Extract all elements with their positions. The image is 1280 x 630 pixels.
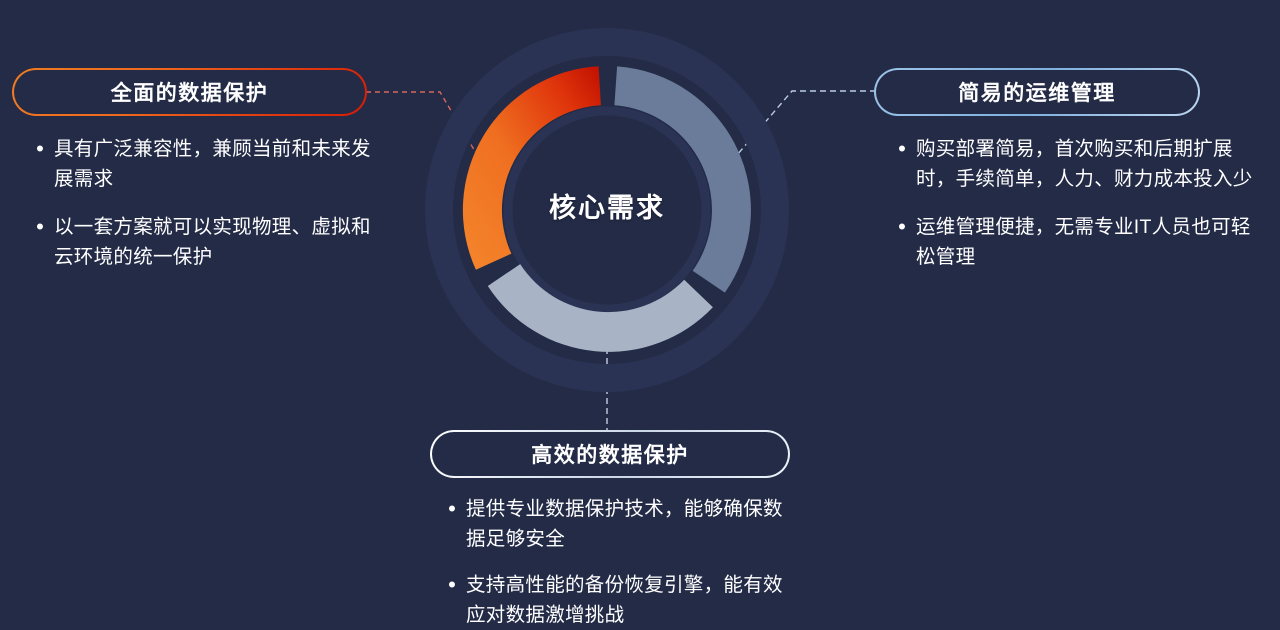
- callout-right-bullet-list: • 购买部署简易，首次购买和后期扩展时，手续简单，人力、财力成本投入少 • 运维…: [888, 134, 1266, 272]
- slide-canvas: 核心需求 全面的数据保护 • 具有广泛兼容性，兼顾当前和未来发展需求 • 以一套…: [0, 0, 1280, 622]
- callout-comprehensive-protection: 全面的数据保护 • 具有广泛兼容性，兼顾当前和未来发展需求 • 以一套方案就可以…: [12, 68, 382, 272]
- callout-bottom-title: 高效的数据保护: [531, 439, 689, 469]
- callout-left-bullet-list: • 具有广泛兼容性，兼顾当前和未来发展需求 • 以一套方案就可以实现物理、虚拟和…: [26, 134, 382, 272]
- list-item: • 具有广泛兼容性，兼顾当前和未来发展需求: [26, 134, 382, 194]
- bullet-text: 提供专业数据保护技术，能够确保数据足够安全: [466, 494, 802, 554]
- donut-center-label: 核心需求: [497, 186, 717, 225]
- bullet-icon: •: [888, 134, 916, 164]
- bullet-text: 具有广泛兼容性，兼顾当前和未来发展需求: [54, 134, 382, 194]
- list-item: • 运维管理便捷，无需专业IT人员也可轻松管理: [888, 212, 1266, 272]
- list-item: • 以一套方案就可以实现物理、虚拟和云环境的统一保护: [26, 212, 382, 272]
- callout-right-pill-inner: 简易的运维管理: [876, 70, 1198, 114]
- bullet-icon: •: [438, 494, 466, 524]
- callout-bottom-bullet-list: • 提供专业数据保护技术，能够确保数据足够安全 • 支持高性能的备份恢复引擎，能…: [438, 494, 802, 630]
- callout-left-pill-inner: 全面的数据保护: [14, 70, 365, 114]
- callout-left-pill[interactable]: 全面的数据保护: [12, 68, 367, 116]
- list-item: • 提供专业数据保护技术，能够确保数据足够安全: [438, 494, 802, 554]
- list-item: • 购买部署简易，首次购买和后期扩展时，手续简单，人力、财力成本投入少: [888, 134, 1266, 194]
- callout-bottom-pill-inner: 高效的数据保护: [432, 432, 788, 476]
- bullet-icon: •: [26, 212, 54, 242]
- callout-right-title: 简易的运维管理: [958, 77, 1116, 107]
- bullet-icon: •: [26, 134, 54, 164]
- bullet-icon: •: [888, 212, 916, 242]
- bullet-text: 购买部署简易，首次购买和后期扩展时，手续简单，人力、财力成本投入少: [916, 134, 1266, 194]
- callout-left-title: 全面的数据保护: [111, 77, 269, 107]
- callout-efficient-data-protection: 高效的数据保护 • 提供专业数据保护技术，能够确保数据足够安全 • 支持高性能的…: [430, 430, 802, 630]
- bullet-icon: •: [438, 570, 466, 600]
- bullet-text: 运维管理便捷，无需专业IT人员也可轻松管理: [916, 212, 1266, 272]
- callout-right-pill[interactable]: 简易的运维管理: [874, 68, 1200, 116]
- bullet-text: 以一套方案就可以实现物理、虚拟和云环境的统一保护: [54, 212, 382, 272]
- list-item: • 支持高性能的备份恢复引擎，能有效应对数据激增挑战: [438, 570, 802, 630]
- callout-easy-ops-management: 简易的运维管理 • 购买部署简易，首次购买和后期扩展时，手续简单，人力、财力成本…: [874, 68, 1266, 272]
- callout-bottom-pill[interactable]: 高效的数据保护: [430, 430, 790, 478]
- bullet-text: 支持高性能的备份恢复引擎，能有效应对数据激增挑战: [466, 570, 802, 630]
